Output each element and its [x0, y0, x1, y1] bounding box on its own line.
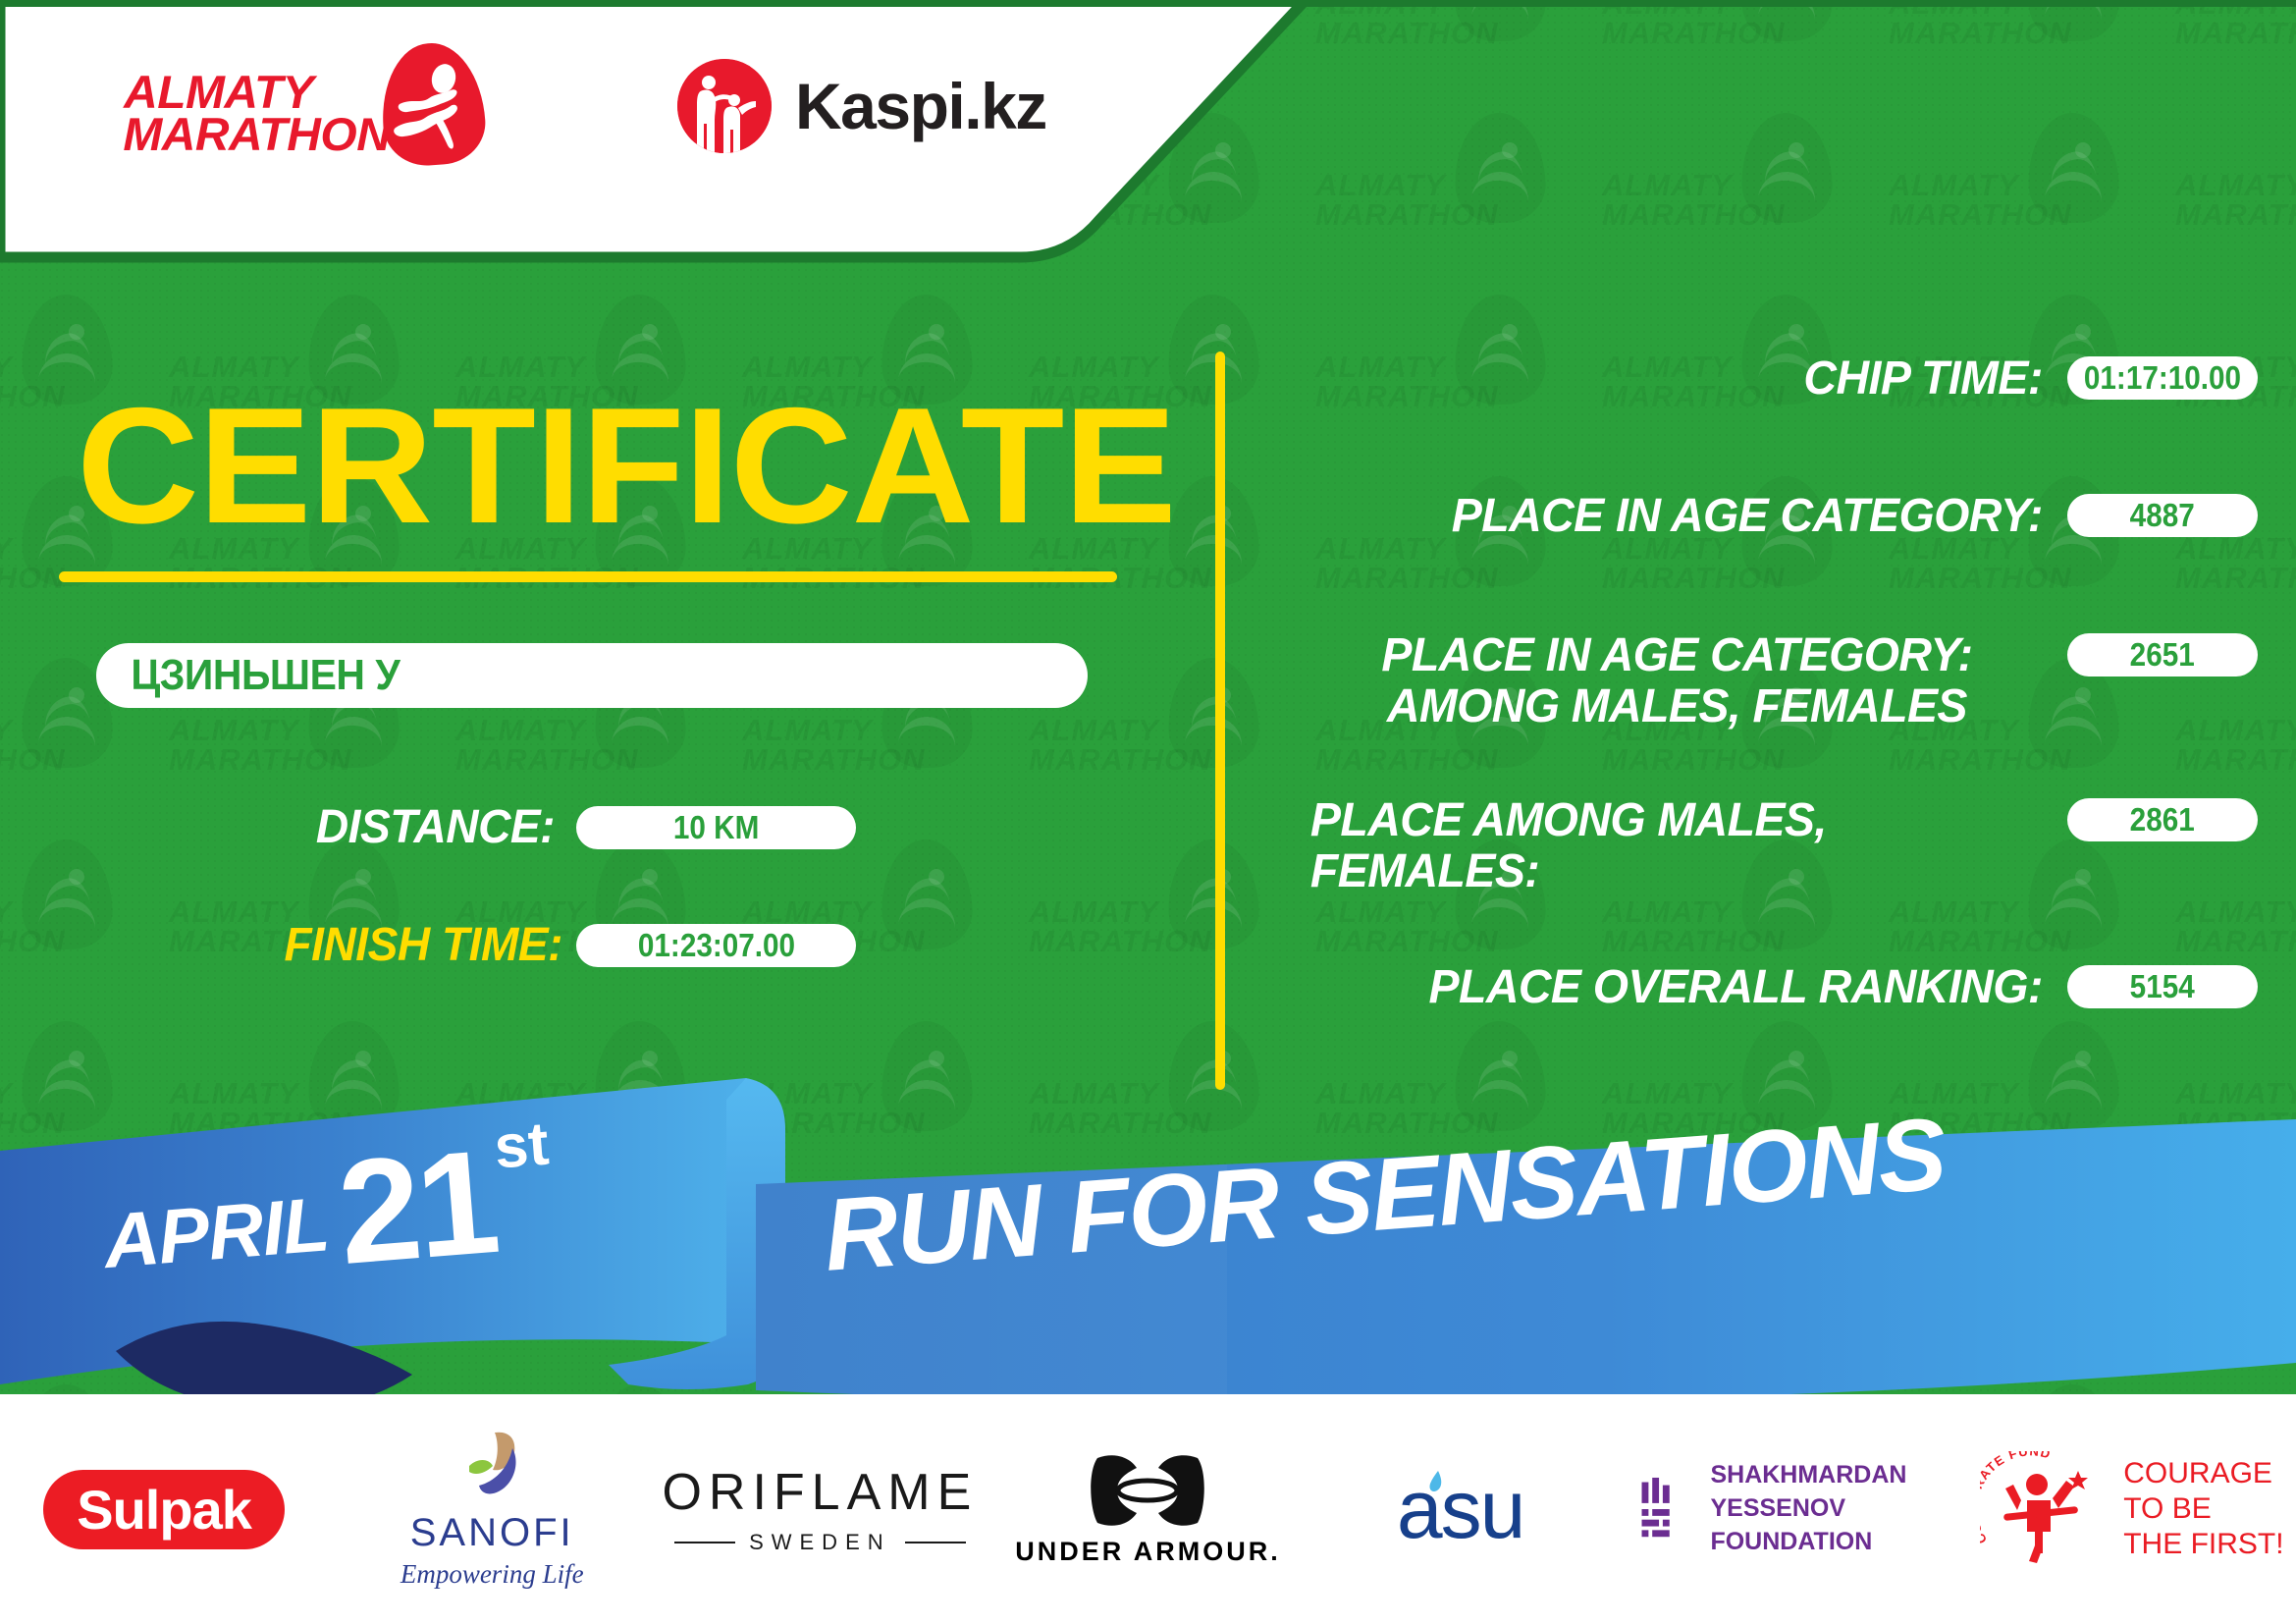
kaspi-wordmark: Kaspi.kz — [795, 69, 1046, 143]
place-overall-ranking-row: PLACE OVERALL RANKING: 5154 — [1276, 962, 2258, 1013]
place-among-males-females-value: 2861 — [2130, 801, 2195, 839]
place-in-age-category-value: 4887 — [2130, 497, 2195, 534]
sponsor-corporate-fund: CORPORATE FUND COURAGE TO BE THE FIRST! — [1968, 1426, 2296, 1593]
asu-wordmark: asu — [1397, 1462, 1523, 1557]
sulpak-logo: Sulpak — [43, 1470, 285, 1549]
almaty-marathon-wordmark: ALMATY MARATHON — [126, 71, 388, 155]
place-in-age-category-among-value: 2651 — [2130, 636, 2195, 674]
place-in-age-category-among-label: PLACE IN AGE CATEGORY: AMONG MALES, FEMA… — [1276, 630, 2044, 732]
place-in-age-category-among-label-line2: AMONG MALES, FEMALES — [1310, 681, 2044, 732]
chip-time-value: 01:17:10.00 — [2084, 359, 2241, 397]
certificate-title: CERTIFICATE — [77, 383, 1176, 548]
distance-label: DISTANCE: — [284, 800, 555, 854]
certificate-page: ALMATYMARATHONALMATYMARATHONALMATYMARATH… — [0, 0, 2296, 1624]
courage-line3: THE FIRST! — [2123, 1527, 2283, 1562]
sanofi-wordmark: SANOFI — [410, 1511, 574, 1555]
place-among-males-females-label-line2: FEMALES: — [1310, 846, 2044, 897]
participant-name: ЦЗИНЬШЕН У — [96, 651, 400, 700]
almaty-marathon-logo: ALMATY MARATHON — [126, 61, 484, 165]
place-in-age-category-among-label-line1: PLACE IN AGE CATEGORY: — [1310, 630, 2044, 681]
vertical-divider — [1215, 352, 1225, 1090]
sponsor-oriflame: ORIFLAME SWEDEN — [656, 1426, 984, 1593]
finish-time-label: FINISH TIME: — [284, 918, 555, 972]
place-in-age-category-among-value-pill: 2651 — [2067, 633, 2258, 677]
place-in-age-category-among-row: PLACE IN AGE CATEGORY: AMONG MALES, FEMA… — [1276, 630, 2258, 732]
chip-time-value-pill: 01:17:10.00 — [2067, 356, 2258, 400]
under-armour-wordmark: UNDER ARMOUR. — [1015, 1537, 1281, 1567]
place-among-males-females-label: PLACE AMONG MALES, FEMALES: — [1276, 795, 2044, 897]
oriflame-logo: ORIFLAME SWEDEN — [662, 1463, 978, 1555]
finish-time-row: FINISH TIME: 01:23:07.00 — [273, 918, 856, 972]
courage-line2: TO BE — [2123, 1491, 2283, 1527]
kaspi-logo: Kaspi.kz — [677, 59, 1046, 153]
almaty-runner-drop-icon — [382, 43, 484, 165]
place-in-age-category-value-pill: 4887 — [2067, 494, 2258, 537]
courage-wordmark: COURAGE TO BE THE FIRST! — [2123, 1456, 2283, 1562]
event-day-ordinal: st — [492, 1109, 552, 1182]
courage-runner-icon: CORPORATE FUND — [1980, 1451, 2106, 1567]
top-accent-rule — [0, 0, 2296, 7]
finish-time-value-pill: 01:23:07.00 — [576, 924, 856, 967]
distance-value-pill: 10 KM — [576, 806, 856, 849]
sanofi-tagline: Empowering Life — [400, 1559, 584, 1590]
almaty-line2: MARATHON — [123, 113, 390, 155]
title-underline — [59, 571, 1117, 582]
yessenov-wordmark: SHAKHMARDAN YESSENOV FOUNDATION — [1710, 1459, 1967, 1558]
event-month: APRIL — [101, 1179, 332, 1286]
place-overall-ranking-label: PLACE OVERALL RANKING: — [1300, 962, 2067, 1013]
chip-time-label: CHIP TIME: — [1300, 353, 2067, 405]
almaty-line1: ALMATY — [124, 71, 313, 113]
place-overall-ranking-value: 5154 — [2130, 968, 2195, 1005]
sanofi-logo: SANOFI Empowering Life — [400, 1429, 584, 1590]
oriflame-wordmark: ORIFLAME — [662, 1463, 978, 1522]
yessenov-mark-icon — [1640, 1468, 1685, 1550]
sponsor-bar: Sulpak SANOFI Empowering Life ORIFLAME S… — [0, 1394, 2296, 1624]
yessenov-logo: SHAKHMARDAN YESSENOV FOUNDATION — [1640, 1459, 1968, 1558]
distance-row: DISTANCE: 10 KM — [273, 800, 856, 854]
distance-value: 10 KM — [673, 809, 759, 846]
oriflame-rule-left — [674, 1542, 735, 1543]
oriflame-rule-right — [905, 1542, 966, 1543]
place-among-males-females-row: PLACE AMONG MALES, FEMALES: 2861 — [1276, 795, 2258, 897]
corporate-fund-logo: CORPORATE FUND COURAGE TO BE THE FIRST! — [1980, 1451, 2283, 1567]
courage-line1: COURAGE — [2123, 1456, 2283, 1491]
sanofi-mark-icon — [455, 1429, 528, 1509]
yessenov-line1: SHAKHMARDAN YESSENOV — [1710, 1459, 1967, 1526]
place-among-males-females-label-line1: PLACE AMONG MALES, — [1310, 795, 2044, 846]
event-day: 21 — [335, 1142, 500, 1272]
yessenov-line2: FOUNDATION — [1710, 1526, 1967, 1559]
sponsor-under-armour: UNDER ARMOUR. — [984, 1426, 1311, 1593]
place-overall-ranking-value-pill: 5154 — [2067, 965, 2258, 1008]
under-armour-logo: UNDER ARMOUR. — [1015, 1452, 1281, 1567]
oriflame-sub: SWEDEN — [674, 1530, 966, 1555]
participant-name-field: ЦЗИНЬШЕН У — [96, 643, 1088, 708]
sponsor-asu: asu — [1312, 1426, 1640, 1593]
under-armour-mark-icon — [1084, 1452, 1211, 1529]
place-in-age-category-label: PLACE IN AGE CATEGORY: — [1300, 491, 2067, 542]
place-in-age-category-row: PLACE IN AGE CATEGORY: 4887 — [1276, 491, 2258, 542]
sulpak-wordmark: Sulpak — [77, 1479, 251, 1541]
place-among-males-females-value-pill: 2861 — [2067, 798, 2258, 841]
chip-time-row: CHIP TIME: 01:17:10.00 — [1276, 353, 2258, 405]
oriflame-country: SWEDEN — [749, 1530, 891, 1555]
kaspi-people-icon — [677, 59, 772, 153]
sponsor-yessenov-foundation: SHAKHMARDAN YESSENOV FOUNDATION — [1640, 1426, 1968, 1593]
sponsor-sanofi: SANOFI Empowering Life — [328, 1426, 656, 1593]
sponsor-sulpak: Sulpak — [0, 1426, 328, 1593]
finish-time-value: 01:23:07.00 — [637, 927, 794, 964]
